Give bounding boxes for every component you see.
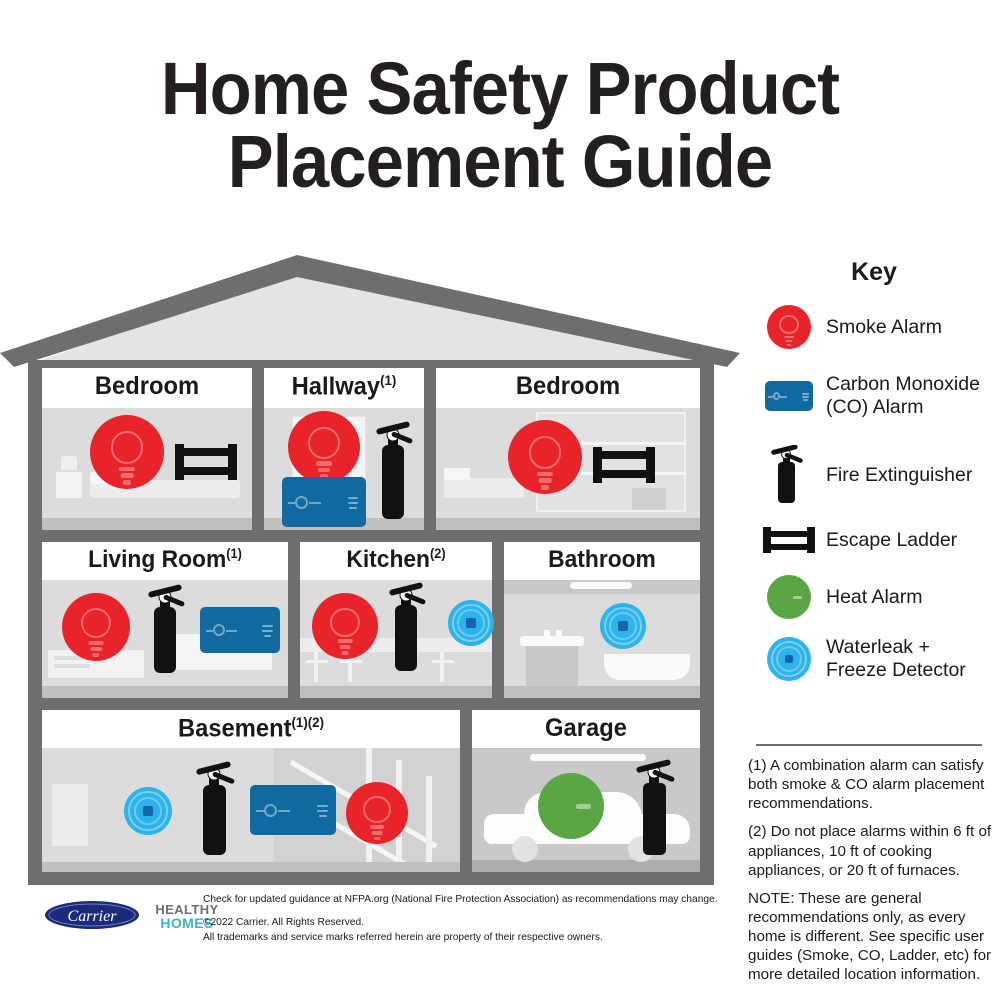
room-label-sup: (1)(2) [291,714,324,730]
co-alarm-bar-1 [348,497,359,499]
room-label-text: Bedroom [516,372,620,400]
co-alarm-indicator [213,624,225,636]
room-label-basement: Basement(1)(2) [52,714,449,743]
co-alarm-bar-1 [802,393,808,395]
smoke-alarm-grill-1 [119,467,135,471]
smoke-alarm-grill-3 [374,837,381,841]
waterleak-detector-icon [752,637,826,681]
co-alarm-line-right [226,630,237,632]
device-fire-extinguisher-hallway [372,419,416,525]
device-fire-extinguisher-garage [632,757,678,861]
smoke-alarm-icon [752,305,826,349]
smoke-alarm-ring [529,436,562,469]
smoke-alarm-grill-2 [121,473,134,477]
device-smoke-alarm-bedroom-right [508,420,582,494]
room-label-text: Hallway [292,372,380,400]
key-item-label: Heat Alarm [826,586,922,609]
smoke-alarm-grill-1 [316,461,332,465]
room-label-kitchen: Kitchen(2) [305,546,487,574]
device-waterleak-detector-kitchen [448,600,494,646]
key-legend: Key Smoke Alarm Carbon Monoxide (CO) Ala… [752,258,996,693]
footer-text: Check for updated guidance at NFPA.org (… [203,893,733,945]
room-label-text: Bedroom [95,372,199,400]
device-smoke-alarm-kitchen [312,593,378,659]
device-escape-ladder-bedroom-left [175,442,237,482]
smoke-alarm-grill-1 [537,472,553,476]
co-alarm-line-left [288,502,296,504]
co-alarm-bar-2 [802,396,808,398]
co-alarm-line-left [206,630,213,632]
notes-block: (1) A combination alarm can satisfy both… [748,756,998,994]
escape-ladder-icon [752,526,826,554]
key-item-waterleak-detector: Waterleak + Freeze Detector [752,629,996,689]
heat-alarm-indicator [793,596,803,599]
smoke-alarm-grill-2 [90,647,102,651]
room-label-sup: (1) [226,546,242,561]
room-label-sup: (2) [430,546,446,561]
device-smoke-alarm-hallway [288,411,360,483]
house-diagram: Bedroom Hallway(1) [0,255,740,885]
room-label-text: Kitchen [346,546,430,573]
smoke-alarm-grill-3 [541,485,549,489]
key-divider [756,744,982,746]
smoke-alarm-grill-3 [92,653,99,657]
device-waterleak-detector-basement [124,787,172,835]
room-label-text: Bathroom [548,546,656,573]
device-smoke-alarm-living-room [62,593,130,661]
smoke-alarm-grill-3 [787,344,792,347]
smoke-alarm-ring [363,796,390,823]
footer-line-copyright: ©2022 Carrier. All Rights Reserved. [203,916,733,930]
co-alarm-bar-3 [803,399,807,401]
smoke-alarm-ring [330,608,359,637]
smoke-alarm-grill-2 [339,645,350,649]
smoke-alarm-ring [111,431,144,464]
device-smoke-alarm-basement [346,782,408,844]
smoke-alarm-grill-2 [785,340,792,343]
footer-line-trademarks: All trademarks and service marks referre… [203,931,733,945]
smoke-alarm-grill-3 [123,480,131,484]
carrier-logo: Carrier [44,900,140,930]
key-item-co-alarm: Carbon Monoxide (CO) Alarm [752,357,996,435]
key-item-label: Fire Extinguisher [826,464,972,487]
room-label-text: Basement [178,714,292,742]
room-label-text: Living Room [88,546,226,573]
device-escape-ladder-bedroom-right [593,445,655,485]
waterleak-center [466,618,475,627]
smoke-alarm-grill-1 [784,336,794,339]
key-item-label: Carbon Monoxide (CO) Alarm [826,373,988,418]
page-title-line1: Home Safety Product [161,47,839,130]
svg-text:Carrier: Carrier [68,908,118,925]
co-alarm-line-right [278,810,290,812]
smoke-alarm-ring [779,315,798,334]
co-alarm-indicator [773,392,780,400]
device-co-alarm-hallway [282,477,366,527]
key-item-label: Waterleak + Freeze Detector [826,636,994,681]
co-alarm-indicator [295,496,308,509]
device-heat-alarm-garage [538,773,604,839]
heat-alarm-indicator [576,804,591,809]
waterleak-center [618,621,627,630]
smoke-alarm-grill-2 [539,478,552,482]
room-label-garage: Garage [478,714,695,743]
device-fire-extinguisher-basement [192,759,238,861]
smoke-alarm-ring [308,427,340,459]
page-title-line2: Placement Guide [35,125,965,198]
smoke-alarm-grill-1 [370,825,384,829]
co-alarm-bar-2 [262,630,272,632]
co-alarm-line-left [768,396,772,398]
key-item-heat-alarm: Heat Alarm [752,569,996,625]
room-label-text: Garage [545,714,627,742]
heat-alarm-icon [752,575,826,619]
smoke-alarm-grill-1 [89,641,104,645]
smoke-alarm-grill-2 [372,831,383,835]
note-2: (2) Do not place alarms within 6 ft of a… [748,822,998,879]
room-label-bedroom-left: Bedroom [47,372,247,401]
co-alarm-bar-3 [264,635,271,637]
room-label-hallway: Hallway(1) [268,372,420,401]
room-label-bedroom-right: Bedroom [443,372,694,401]
co-alarm-bar-1 [262,625,272,627]
device-fire-extinguisher-kitchen [385,581,429,677]
room-label-living-room: Living Room(1) [48,546,282,574]
smoke-alarm-grill-3 [341,651,348,655]
co-alarm-line-left [256,810,264,812]
key-item-smoke-alarm: Smoke Alarm [752,301,996,353]
smoke-alarm-ring [81,608,111,638]
note-3: NOTE: These are general recommendations … [748,889,998,985]
co-alarm-bar-3 [319,815,327,817]
smoke-alarm-grill-1 [338,639,353,643]
fire-extinguisher-icon [752,445,826,505]
co-alarm-bar-1 [317,805,328,807]
device-co-alarm-basement [250,785,336,835]
co-alarm-bar-2 [348,502,359,504]
device-fire-extinguisher-living-room [144,583,188,679]
smoke-alarm-grill-2 [318,468,330,472]
key-item-label: Escape Ladder [826,529,957,552]
co-alarm-line-right [309,502,321,504]
page-title: Home Safety Product Placement Guide [35,52,965,199]
note-1: (1) A combination alarm can satisfy both… [748,756,998,813]
co-alarm-bar-2 [317,810,328,812]
device-co-alarm-living-room [200,607,280,653]
room-label-sup: (1) [380,372,396,388]
co-alarm-indicator [264,804,277,817]
key-item-fire-extinguisher: Fire Extinguisher [752,439,996,511]
device-smoke-alarm-bedroom-left [90,415,164,489]
waterleak-center [785,655,794,664]
key-item-label: Smoke Alarm [826,316,942,339]
co-alarm-bar-3 [349,507,357,509]
co-alarm-icon [752,381,826,411]
key-item-escape-ladder: Escape Ladder [752,515,996,565]
waterleak-center [143,806,153,816]
device-waterleak-detector-bathroom [600,603,646,649]
footer-line-nfpa: Check for updated guidance at NFPA.org (… [203,893,733,907]
room-label-bathroom: Bathroom [509,546,695,574]
key-heading: Key [752,258,996,287]
co-alarm-line-right [780,396,787,398]
